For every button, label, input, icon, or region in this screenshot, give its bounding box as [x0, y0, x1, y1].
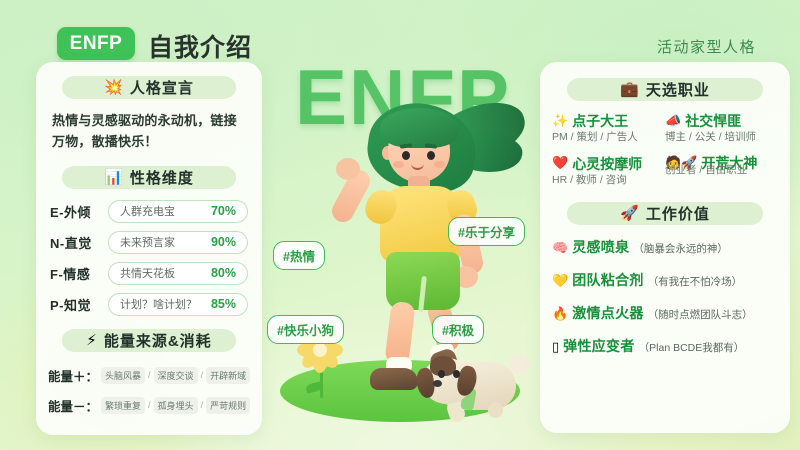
- dog-leg: [488, 402, 503, 418]
- career-name: 社交悍匪: [685, 113, 741, 129]
- hashtag-pill: #积极: [432, 315, 484, 344]
- value-desc: （Plan BCDE我都有）: [639, 340, 745, 355]
- energy-row-key: 能量－：: [48, 396, 98, 415]
- energy-tag-group: 繁琐重复 / 孤身埋头 / 严苛规则: [101, 397, 250, 414]
- energy-row-drain: 能量－： 繁琐重复 / 孤身埋头 / 严苛规则: [48, 396, 250, 414]
- energy-row-key: 能量＋：: [48, 366, 98, 385]
- dimension-value: 85%: [211, 297, 236, 311]
- career-list: ✨ 点子大王 PM / 策划 / 广告人 📣 社交悍匪 博主 / 公关 / 培训…: [552, 113, 778, 198]
- dimension-key: P-知觉: [50, 295, 108, 314]
- career-title: ✨ 点子大王: [552, 113, 665, 129]
- career-subtitle: 博主 / 公关 / 培训师: [665, 131, 778, 144]
- dimension-list: E-外倾 人群充电宝 70% N-直觉 未来预言家 90% F-情感 共情天花板…: [50, 198, 248, 317]
- career-name: 心灵按摩师: [572, 156, 642, 172]
- dimension-value: 70%: [211, 204, 236, 218]
- dimension-key: N-直觉: [50, 233, 108, 252]
- dimension-row: E-外倾 人群充电宝 70%: [50, 198, 248, 224]
- hashtag-pill: #乐于分享: [448, 217, 525, 246]
- brain-icon: 🧠: [552, 240, 568, 256]
- section-header-energy: ⚡ 能量来源&消耗: [50, 327, 248, 354]
- section-header-manifesto: 💥 人格宣言: [50, 74, 248, 101]
- dimension-label: 共情天花板: [120, 265, 175, 281]
- career-subtitle: PM / 策划 / 广告人: [552, 131, 665, 144]
- career-name: 点子大王: [572, 113, 628, 129]
- dimension-value: 80%: [211, 266, 236, 280]
- bar-chart-icon: 📊: [104, 170, 123, 185]
- section-title-careers: 天选职业: [646, 79, 710, 100]
- dimension-pill: 未来预言家 90%: [108, 231, 248, 254]
- manifesto-text: 热情与灵感驱动的永动机，链接万物，散播快乐！: [52, 110, 246, 152]
- dimension-row: F-情感 共情天花板 80%: [50, 260, 248, 286]
- blush: [434, 161, 445, 168]
- career-item: 🧑🚀 开荒大神 创业者 / 自由职业: [665, 156, 778, 187]
- dimension-row: N-直觉 未来预言家 90%: [50, 229, 248, 255]
- fire-icon: 🔥: [552, 306, 568, 322]
- dimension-pill: 计划？啥计划？ 85%: [108, 293, 248, 316]
- energy-row-gain: 能量＋： 头脑风暴 / 深度交谈 / 开辟新域: [48, 366, 250, 384]
- energy-tag: 繁琐重复: [101, 397, 145, 414]
- hashtag-pill: #热情: [273, 241, 325, 270]
- hashtag-pill: #快乐小狗: [267, 315, 344, 344]
- energy-tag: 头脑风暴: [101, 367, 145, 384]
- page-title: 自我介绍: [148, 28, 252, 64]
- fist-left: [336, 158, 360, 180]
- hair-front: [380, 108, 458, 148]
- value-name: 灵感喷泉: [572, 237, 629, 257]
- value-name: 弹性应变者: [563, 336, 635, 356]
- shoe-front: [370, 368, 418, 390]
- energy-tag: 开辟新域: [206, 367, 250, 384]
- value-item: 🔥 激情点火器 （随时点燃团队斗志）: [552, 303, 778, 323]
- career-item: ❤️ 心灵按摩师 HR / 教师 / 咨询: [552, 156, 665, 187]
- dimension-pill: 人群充电宝 70%: [108, 200, 248, 223]
- value-item: ▯ 弹性应变者 （Plan BCDE我都有）: [552, 336, 778, 356]
- dimension-label: 人群充电宝: [120, 203, 175, 219]
- value-list: 🧠 灵感喷泉 （脑暴会永远的神） 💛 团队粘合剂 （有我在不怕冷场） 🔥 激情点…: [552, 237, 778, 356]
- megaphone-icon: 📣: [665, 114, 681, 129]
- dimension-key: E-外倾: [50, 202, 108, 221]
- eye: [402, 151, 410, 160]
- poster-canvas: ENFP ENFP 自我介绍 活动家型人格 💥 人格宣言 热情与灵感驱动的永动机…: [0, 0, 800, 450]
- career-subtitle: HR / 教师 / 咨询: [552, 174, 665, 187]
- section-header-values: 🚀 工作价值: [554, 200, 776, 227]
- value-name: 激情点火器: [572, 303, 644, 323]
- dog-eye: [453, 370, 460, 378]
- section-title-energy: 能量来源&消耗: [104, 330, 212, 351]
- section-title-dimensions: 性格维度: [130, 167, 194, 188]
- dimension-row: P-知觉 计划？啥计划？ 85%: [50, 291, 248, 317]
- dog-nose: [433, 380, 442, 387]
- value-desc: （有我在不怕冷场）: [648, 274, 743, 289]
- energy-tag-group: 头脑风暴 / 深度交谈 / 开辟新域: [101, 367, 250, 384]
- sparkles-icon: ✨: [552, 114, 568, 129]
- yellow-heart-icon: 💛: [552, 273, 568, 289]
- left-info-card: 💥 人格宣言 热情与灵感驱动的永动机，链接万物，散播快乐！ 📊 性格维度 E-外…: [36, 62, 262, 435]
- value-item: 🧠 灵感喷泉 （脑暴会永远的神）: [552, 237, 778, 257]
- dimension-value: 90%: [211, 235, 236, 249]
- value-desc: （脑暴会永远的神）: [633, 241, 728, 256]
- energy-tag: 深度交谈: [154, 367, 198, 384]
- heart-icon: ❤️: [552, 156, 568, 171]
- career-title: ❤️ 心灵按摩师: [552, 156, 665, 172]
- personality-type-label: 活动家型人格: [657, 36, 756, 57]
- dimension-label: 计划？啥计划？: [120, 296, 197, 312]
- rocket-icon: 🚀: [620, 206, 639, 221]
- star-burst-icon: 💥: [104, 80, 123, 95]
- blush: [393, 161, 404, 168]
- career-item: ✨ 点子大王 PM / 策划 / 广告人: [552, 113, 665, 144]
- tag-separator: /: [148, 370, 151, 380]
- career-item: 📣 社交悍匪 博主 / 公关 / 培训师: [665, 113, 778, 144]
- leg-front: [384, 301, 415, 365]
- eye: [427, 151, 435, 160]
- missing-glyph-icon: ▯: [552, 339, 559, 355]
- dimension-label: 未来预言家: [120, 234, 175, 250]
- section-header-careers: 💼 天选职业: [554, 76, 776, 103]
- tag-separator: /: [148, 400, 151, 410]
- section-title-values: 工作价值: [646, 203, 710, 224]
- career-title: 📣 社交悍匪: [665, 113, 778, 129]
- section-title-manifesto: 人格宣言: [130, 77, 194, 98]
- lightning-icon: ⚡: [86, 333, 97, 348]
- dimension-key: F-情感: [50, 264, 108, 283]
- enfp-badge: ENFP: [57, 27, 135, 60]
- career-subtitle: 创业者 / 自由职业: [665, 164, 778, 177]
- section-header-dimensions: 📊 性格维度: [50, 164, 248, 191]
- dimension-pill: 共情天花板 80%: [108, 262, 248, 285]
- character-illustration: #热情 #乐于分享 #快乐小狗 #积极: [262, 62, 540, 450]
- briefcase-icon: 💼: [620, 82, 639, 97]
- tag-separator: /: [201, 400, 204, 410]
- tag-separator: /: [201, 370, 204, 380]
- energy-tag: 孤身埋头: [154, 397, 198, 414]
- dog-eye: [438, 370, 445, 378]
- energy-list: 能量＋： 头脑风暴 / 深度交谈 / 开辟新域 能量－： 繁琐重复 / 孤身埋头…: [36, 366, 262, 414]
- energy-tag: 严苛规则: [206, 397, 250, 414]
- right-info-card: 💼 天选职业 ✨ 点子大王 PM / 策划 / 广告人 📣 社交悍匪 博主 / …: [540, 62, 790, 433]
- value-name: 团队粘合剂: [572, 270, 644, 290]
- value-item: 💛 团队粘合剂 （有我在不怕冷场）: [552, 270, 778, 290]
- value-desc: （随时点燃团队斗志）: [648, 307, 753, 322]
